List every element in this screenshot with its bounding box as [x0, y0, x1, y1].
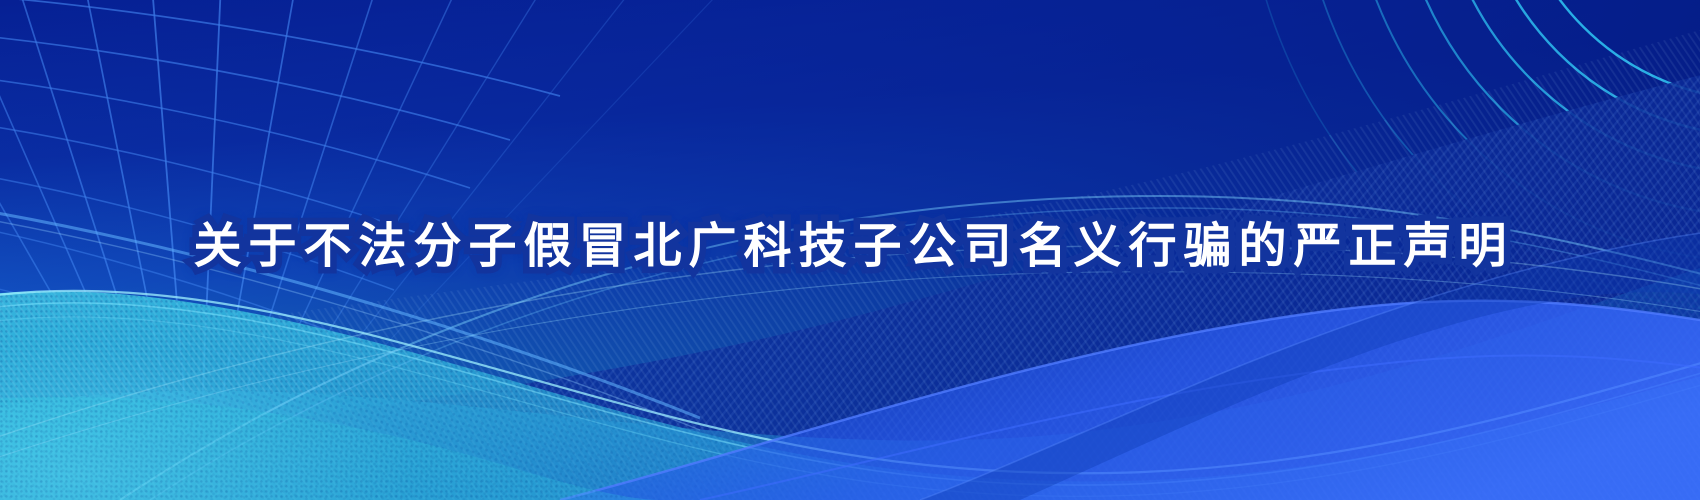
announcement-banner: 关于不法分子假冒北广科技子公司名义行骗的严正声明 关于不法分子假冒北广科技子公司…	[0, 0, 1700, 500]
banner-background	[0, 0, 1700, 500]
